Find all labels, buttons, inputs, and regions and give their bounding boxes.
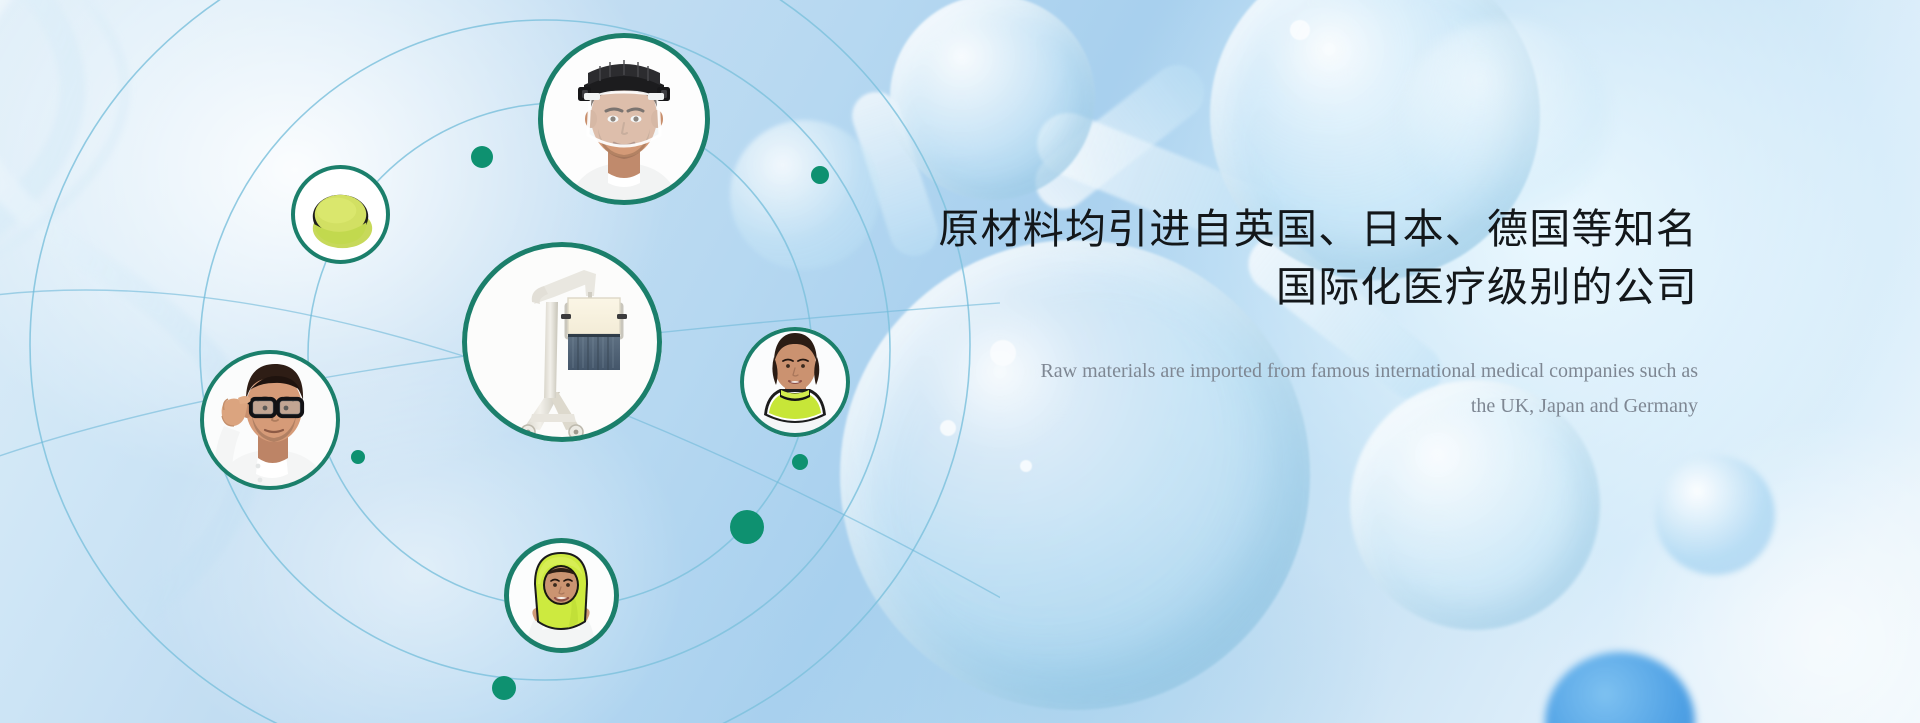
woman-with-lead-hood-photo [504, 538, 619, 653]
molecule-highlight [1290, 20, 1310, 40]
orbit-dot-bottom [492, 676, 516, 700]
man-with-lead-glasses-photo [200, 350, 340, 490]
molecule-atom [890, 0, 1095, 200]
orbit-dot-left [351, 450, 365, 464]
hero-banner: 原材料均引进自英国、日本、德国等知名 国际化医疗级别的公司 Raw materi… [0, 0, 1920, 723]
cloud-wash-left [40, 250, 800, 723]
bubble-lead-glasses [200, 350, 340, 490]
man-with-radiation-face-shield-photo [538, 33, 710, 205]
bubble-face-shield [538, 33, 710, 205]
orbit-dot-right [792, 454, 808, 470]
background-orb [1655, 455, 1775, 575]
bubble-mobile-shield [462, 242, 662, 442]
molecule-highlight [1020, 460, 1032, 472]
lead-protective-cap-icon [291, 165, 390, 264]
orbit-dot-upper-right [811, 166, 829, 184]
orbit-dot-top [471, 146, 493, 168]
orbit-dot-center-large [730, 510, 764, 544]
subtitle-line-1: Raw materials are imported from famous i… [1040, 360, 1698, 382]
bubble-lead-cap [291, 165, 390, 264]
cloud-wash-bottom-center [620, 420, 1520, 723]
subtitle-line-2: the UK, Japan and Germany [798, 389, 1698, 423]
dna-helix-graphic [0, 0, 430, 640]
background-orb-blue [1545, 652, 1695, 723]
banner-subtitle: Raw materials are imported from famous i… [798, 354, 1698, 423]
background-orb [1400, 20, 1610, 220]
molecule-bond [1025, 54, 1216, 220]
headline-line-1: 原材料均引进自英国、日本、德国等知名 [938, 206, 1698, 252]
bubble-lead-hood [504, 538, 619, 653]
mobile-radiation-shield-stand-photo [462, 242, 662, 442]
banner-copy: 原材料均引进自英国、日本、德国等知名 国际化医疗级别的公司 Raw materi… [798, 200, 1698, 423]
banner-headline: 原材料均引进自英国、日本、德国等知名 国际化医疗级别的公司 [798, 200, 1698, 316]
headline-line-2: 国际化医疗级别的公司 [798, 258, 1698, 316]
